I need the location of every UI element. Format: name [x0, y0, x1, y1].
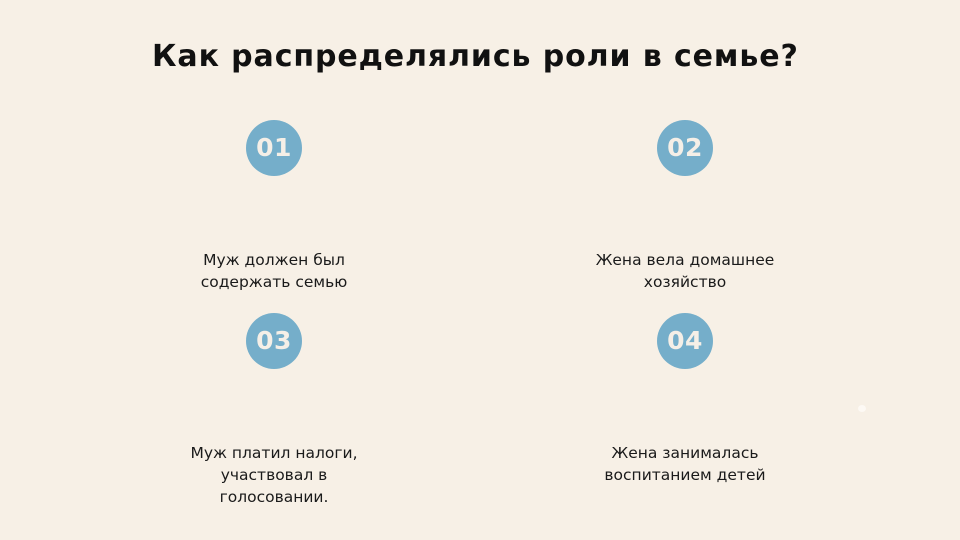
number-badge-03: 03 — [246, 313, 302, 369]
item-description-03: Муж платил налоги, участвовал в голосова… — [124, 442, 424, 508]
number-badge-01: 01 — [246, 120, 302, 176]
items-grid: 01 Муж должен был содержать семью 02 Жен… — [0, 120, 960, 540]
slide-canvas: Как распределялись роли в семье? 01 Муж … — [0, 0, 960, 540]
list-item-03: 03 Муж платил налоги, участвовал в голос… — [124, 313, 424, 508]
item-description-02: Жена вела домашнее хозяйство — [535, 249, 835, 293]
badge-number-label: 03 — [256, 328, 292, 353]
badge-number-label: 02 — [667, 135, 703, 160]
number-badge-02: 02 — [657, 120, 713, 176]
item-description-04: Жена занималась воспитанием детей — [535, 442, 835, 486]
badge-number-label: 04 — [667, 328, 703, 353]
list-item-04: 04 Жена занималась воспитанием детей — [535, 313, 835, 486]
page-title: Как распределялись роли в семье? — [152, 38, 832, 76]
background-speck — [858, 405, 866, 412]
list-item-02: 02 Жена вела домашнее хозяйство — [535, 120, 835, 293]
number-badge-04: 04 — [657, 313, 713, 369]
list-item-01: 01 Муж должен был содержать семью — [124, 120, 424, 293]
item-description-01: Муж должен был содержать семью — [124, 249, 424, 293]
badge-number-label: 01 — [256, 135, 292, 160]
